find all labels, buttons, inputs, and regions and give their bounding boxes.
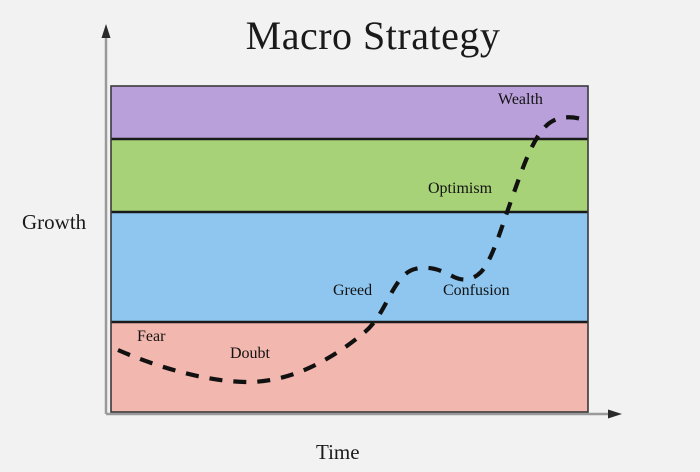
y-axis-arrow-icon [102,24,111,38]
bands-group [111,86,588,412]
annotation-fear: Fear [137,328,165,346]
macro-strategy-chart: Macro Strategy Growth Time Wealth Optimi… [0,0,700,472]
band-confusion [111,212,588,322]
band-optimism [111,139,588,212]
chart-canvas [0,0,700,472]
x-axis-arrow-icon [608,410,622,419]
y-axis-label: Growth [22,210,86,235]
annotation-optimism: Optimism [428,180,492,198]
band-fear [111,322,588,412]
annotation-doubt: Doubt [230,345,270,363]
annotation-wealth: Wealth [498,91,543,109]
x-axis-label: Time [316,440,360,465]
annotation-confusion: Confusion [443,282,510,300]
annotation-greed: Greed [333,282,372,300]
